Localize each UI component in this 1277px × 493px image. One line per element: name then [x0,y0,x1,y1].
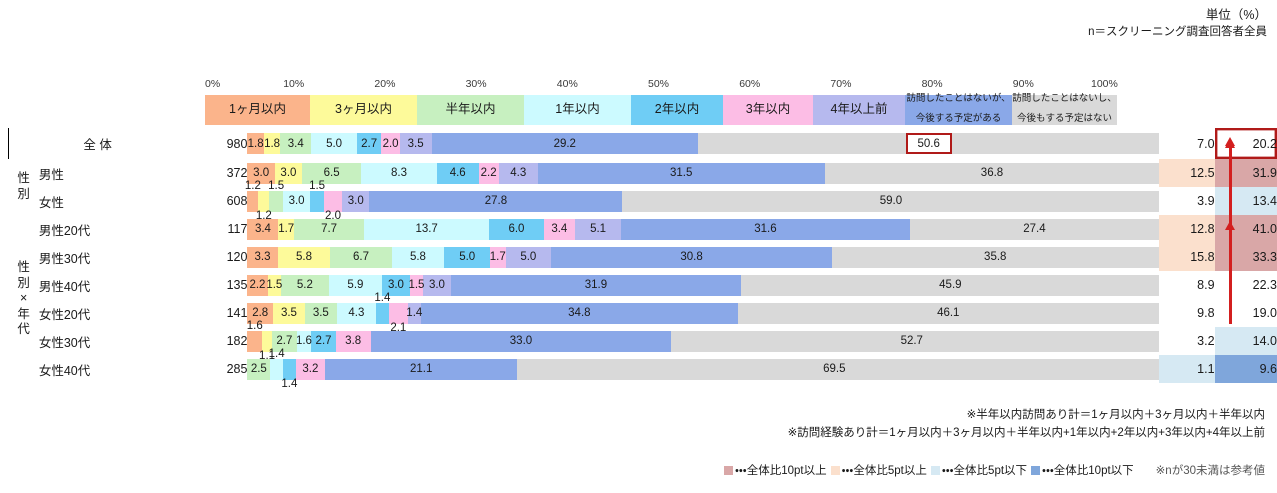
summary-visit-experience-total: 33.3 [1215,243,1277,271]
bar-segment: 35.8 [832,247,1158,268]
bar-segment: 33.0 [371,331,672,352]
bar-segment-value: 3.5 [408,138,424,150]
row-n-value: 980 [186,128,247,159]
legend-swatch-icon [931,466,940,475]
bar-segment-value: 69.5 [823,363,845,375]
bottom-legend-label: ・・・全体比5pt以上 [842,465,927,477]
bar-segment: 1.4 [283,359,296,380]
bar-segment-value: 5.0 [459,251,475,263]
legend-item-2: 半年以内 [417,95,524,125]
bar-segment: 1.5 [310,191,324,212]
row-bar-cell: 1.61.12.71.62.73.833.052.7 [247,327,1159,355]
bar-segment-value: 3.2 [302,363,318,375]
group-label-char: 別 [9,187,39,203]
table-row: 女性40代2852.51.41.43.221.169.51.19.6 [9,355,1277,383]
bottom-legend-item-0: ・・・全体比10pt以上 [724,462,827,478]
legend-strip: 1ヶ月以内3ヶ月以内半年以内1年以内2年以内3年以内4年以上前訪問したことはない… [205,95,1117,125]
bar-segment-value: 34.8 [568,307,590,319]
legend-item-8: 訪問したことはないし、今後もする予定はない [1012,95,1117,125]
bar-segment-value: 2.0 [325,210,341,222]
axis-tick: 70% [830,78,851,90]
bar-segment: 2.2 [479,163,499,184]
bar-segment: 45.9 [741,275,1159,296]
bar-segment-value: 5.0 [326,138,342,150]
row-bar-cell: 3.41.77.713.76.03.45.131.627.4 [247,215,1159,243]
bar-segment-value: 3.5 [313,307,329,319]
bar-segment: 59.0 [622,191,1159,212]
bar-segment: 13.7 [364,219,489,240]
bar-segment-value: 3.0 [289,195,305,207]
bar-segment-value: 7.7 [321,223,337,235]
bar-segment-value: 6.7 [353,251,369,263]
bar-segment-value: 27.4 [1023,223,1045,235]
group-label-char: 性 [9,171,39,187]
bar-segment: 1.5 [410,275,424,296]
legend-item-3: 1年以内 [524,95,631,125]
bottom-legend: ・・・全体比10pt以上・・・全体比5pt以上・・・全体比5pt以下・・・全体比… [0,462,1265,478]
bar-segment-value: 5.8 [410,251,426,263]
stacked-bar: 1.81.83.45.02.72.03.529.250.650.6 [247,133,1159,154]
bar-segment-value: 3.0 [253,167,269,179]
summary-within-half-year: 3.2 [1159,327,1214,355]
summary-visit-experience-total: 9.6 [1215,355,1277,383]
legend-label-line2: 今後もする予定はない [1017,114,1112,124]
bar-segment: 3.0 [283,191,310,212]
row-n-value: 285 [186,355,247,383]
group-label-char: × [9,291,39,307]
row-label: 女性40代 [39,355,186,383]
bar-segment-value: 1.2 [256,210,272,222]
bottom-legend-item-1: ・・・全体比5pt以上 [831,462,927,478]
bar-segment-value: 3.4 [288,138,304,150]
bar-segment: 5.2 [281,275,328,296]
legend-item-1: 3ヶ月以内 [310,95,417,125]
bar-segment: 4.6 [437,163,479,184]
bar-segment-value: 3.0 [280,167,296,179]
row-bar-cell: 3.35.86.75.85.01.75.030.835.8 [247,243,1159,271]
bar-segment-value: 5.8 [296,251,312,263]
bar-segment: 31.9 [451,275,742,296]
bar-segment: 1.2 [247,191,258,212]
bar-segment-value: 2.7 [361,138,377,150]
bar-segment-value: 3.0 [348,195,364,207]
unit-note: 単位（%） [1088,6,1267,24]
highlight-value-box: 50.6 [906,133,952,154]
bottom-legend-label: ・・・全体比5pt以下 [942,465,1027,477]
bar-segment: 6.0 [489,219,544,240]
bar-segment: 8.3 [361,163,437,184]
bar-segment: 2.7 [311,331,336,352]
stacked-bar: 2.83.53.54.31.42.11.434.846.1 [247,303,1159,324]
bar-segment-value: 3.4 [551,223,567,235]
bar-segment: 1.4 [376,303,389,324]
bar-segment-value: 5.9 [347,279,363,291]
table-row: 男性40代1352.21.55.25.93.01.53.031.945.98.9… [9,271,1277,299]
bar-segment-value: 2.0 [383,138,399,150]
table-row: 性別×年代男性20代1173.41.77.713.76.03.45.131.62… [9,215,1277,243]
chart-page: 単位（%） n＝スクリーニング調査回答者全員 0%10%20%30%40%50%… [0,0,1277,493]
bar-segment-value: 1.8 [248,138,264,150]
axis-tick: 10% [283,78,304,90]
bar-segment-value: 5.1 [590,223,606,235]
bar-segment: 52.7 [671,331,1152,352]
bar-segment-value: 6.0 [508,223,524,235]
row-label: 男性20代 [39,215,186,243]
bar-segment: 3.3 [247,247,277,268]
bar-segment: 1.8 [264,133,280,154]
bar-segment: 1.7 [278,219,294,240]
bar-segment: 4.3 [499,163,538,184]
summary-visit-experience-total: 13.4 [1215,187,1277,215]
summary-within-half-year: 9.8 [1159,299,1214,327]
bar-segment: 34.8 [421,303,738,324]
bar-segment: 3.5 [400,133,432,154]
stacked-bar: 3.03.06.58.34.62.24.331.536.8 [247,163,1159,184]
bar-segment: 31.6 [621,219,909,240]
bar-segment-value: 31.6 [754,223,776,235]
summary-visit-experience-total: 22.3 [1215,271,1277,299]
row-label: 全 体 [9,128,187,159]
bar-segment: 5.1 [575,219,622,240]
axis-tick: 100% [1091,78,1118,90]
summary-within-half-year: 7.0 [1159,128,1214,159]
bar-segment-value: 45.9 [939,279,961,291]
bar-segment-value: 2.7 [316,335,332,347]
bar-segment: 5.8 [392,247,445,268]
axis-tick: 90% [1013,78,1034,90]
bar-segment-value: 13.7 [415,223,437,235]
bar-segment-value: 1.2 [245,180,261,192]
bar-segment: 3.5 [305,303,337,324]
table-row: 男性30代1203.35.86.75.85.01.75.030.835.815.… [9,243,1277,271]
base-note: n＝スクリーニング調査回答者全員 [1088,24,1267,41]
axis-tick: 60% [739,78,760,90]
row-label: 女性20代 [39,299,186,327]
bar-segment-value: 1.5 [266,279,282,291]
summary-within-half-year: 8.9 [1159,271,1214,299]
bar-segment: 7.7 [294,219,364,240]
bar-segment-value: 33.0 [510,335,532,347]
summary-visit-experience-total: 19.0 [1215,299,1277,327]
bar-segment-value: 5.2 [297,279,313,291]
row-n-value: 372 [186,159,247,187]
summary-visit-experience-total: 14.0 [1215,327,1277,355]
legend-swatch-icon [1031,466,1040,475]
table-row: 女性30代1821.61.12.71.62.73.833.052.73.214.… [9,327,1277,355]
bar-segment-value: 59.0 [880,195,902,207]
bar-segment-value: 3.3 [255,251,271,263]
group-label-char: 年 [9,307,39,323]
row-label: 女性30代 [39,327,186,355]
bar-segment: 1.2 [258,191,269,212]
bottom-legend-item-3: ・・・全体比10pt以下 [1031,462,1134,478]
bar-segment: 2.0 [324,191,342,212]
bar-segment: 3.4 [247,219,278,240]
bar-segment: 3.2 [296,359,325,380]
bar-segment-value: 29.2 [554,138,576,150]
legend-label-line1: 訪問したことはないが、 [906,94,1010,104]
bar-segment: 5.0 [311,133,357,154]
bar-segment: 4.3 [337,303,376,324]
x-axis: 0%10%20%30%40%50%60%70%80%90%100% [205,78,1117,92]
axis-tick: 0% [205,78,220,90]
bar-segment-value: 3.0 [388,279,404,291]
bar-segment-value: 1.4 [406,307,422,319]
row-label: 男性 [39,159,186,187]
bar-segment-value: 1.4 [269,348,285,360]
axis-tick: 30% [466,78,487,90]
bar-segment-value: 4.3 [510,167,526,179]
bar-segment: 29.2 [432,133,698,154]
bar-segment: 27.8 [369,191,622,212]
bar-segment: 2.2 [247,275,267,296]
top-notes: 単位（%） n＝スクリーニング調査回答者全員 [1088,6,1267,41]
summary-visit-experience-total: 31.9 [1215,159,1277,187]
bar-segment: 69.5 [517,359,1151,380]
bar-segment: 1.4 [408,303,421,324]
summary-within-half-year: 1.1 [1159,355,1214,383]
summary-within-half-year: 15.8 [1159,243,1214,271]
stacked-bar: 2.51.41.43.221.169.5 [247,359,1159,380]
bar-segment: 6.7 [330,247,391,268]
bar-segment-value: 31.5 [670,167,692,179]
footnote-1: ※半年以内訪問あり計＝1ヶ月以内＋3ヶ月以内＋半年以内 [788,406,1265,424]
stacked-bar: 1.61.12.71.62.73.833.052.7 [247,331,1159,352]
bar-segment: 36.8 [825,163,1160,184]
bar-segment-value: 1.8 [264,138,280,150]
bar-segment-value: 1.7 [490,251,506,263]
bar-segment-value: 3.8 [345,335,361,347]
bar-segment: 2.1 [389,303,408,324]
table-row: 全 体9801.81.83.45.02.72.03.529.250.650.67… [9,128,1277,159]
bar-segment: 3.0 [342,191,369,212]
bar-segment-value: 1.5 [309,180,325,192]
bar-segment-value: 36.8 [981,167,1003,179]
row-bar-cell: 2.83.53.54.31.42.11.434.846.1 [247,299,1159,327]
group-label-char: 性 [9,260,39,276]
legend-label-line2: 今後する予定がある [916,114,1002,124]
bar-segment-value: 1.7 [278,223,294,235]
bar-segment: 1.5 [269,191,283,212]
bar-segment-value: 1.4 [374,292,390,304]
bottom-legend-item-2: ・・・全体比5pt以下 [931,462,1027,478]
bar-segment-value: 8.3 [391,167,407,179]
row-label: 男性30代 [39,243,186,271]
bar-segment: 3.4 [544,219,575,240]
bar-segment: 1.4 [270,359,283,380]
bar-segment: 27.4 [910,219,1160,240]
axis-tick: 20% [374,78,395,90]
bar-segment: 5.0 [444,247,490,268]
bar-segment-value: 3.5 [281,307,297,319]
bar-segment-value: 35.8 [984,251,1006,263]
row-n-value: 117 [186,215,247,243]
axis-tick: 50% [648,78,669,90]
bar-segment: 46.1 [738,303,1158,324]
row-group-label: 性別 [9,159,39,215]
table-row: 女性6081.21.21.53.01.52.03.027.859.03.913.… [9,187,1277,215]
bar-segment: 30.8 [551,247,832,268]
bar-segment-value: 30.8 [680,251,702,263]
bar-segment: 2.0 [381,133,399,154]
bar-segment: 2.7 [357,133,382,154]
bar-segment-value: 27.8 [485,195,507,207]
bar-segment: 3.5 [273,303,305,324]
bar-segment: 31.5 [538,163,825,184]
group-label-char: 別 [9,276,39,292]
legend-swatch-icon [831,466,840,475]
bottom-legend-label: ・・・全体比10pt以上 [735,465,827,477]
legend-item-0: 1ヶ月以内 [205,95,310,125]
bar-segment-value: 1.4 [281,378,297,390]
trend-arrow-icon [1229,228,1232,324]
footnote-2: ※訪問経験あり計＝1ヶ月以内＋3ヶ月以内＋半年以内+1年以内+2年以内+3年以内… [788,424,1265,442]
row-bar-cell: 3.03.06.58.34.62.24.331.536.8 [247,159,1159,187]
bar-segment-value: 2.2 [481,167,497,179]
footnotes: ※半年以内訪問あり計＝1ヶ月以内＋3ヶ月以内＋半年以内 ※訪問経験あり計＝1ヶ月… [788,406,1265,443]
stacked-bar: 3.41.77.713.76.03.45.131.627.4 [247,219,1159,240]
bar-segment-value: 3.0 [429,279,445,291]
bar-segment: 1.8 [247,133,263,154]
row-group-label: 性別×年代 [9,215,39,383]
bottom-legend-label: ・・・全体比10pt以下 [1042,465,1134,477]
legend-item-6: 4年以上前 [813,95,905,125]
bar-segment: 3.8 [336,331,371,352]
row-bar-cell: 1.81.83.45.02.72.03.529.250.650.6 [247,128,1159,159]
table-row: 性別男性3723.03.06.58.34.62.24.331.536.812.5… [9,159,1277,187]
row-n-value: 182 [186,327,247,355]
bar-segment-value: 2.8 [252,307,268,319]
stacked-bar: 1.21.21.53.01.52.03.027.859.0 [247,191,1159,212]
bar-segment: 5.0 [506,247,552,268]
row-bar-cell: 2.51.41.43.221.169.5 [247,355,1159,383]
summary-within-half-year: 12.8 [1159,215,1214,243]
bar-segment-value: 4.6 [450,167,466,179]
bar-segment: 1.7 [490,247,506,268]
row-label: 女性 [39,187,186,215]
legend-swatch-icon [724,466,733,475]
bar-segment-value: 1.5 [268,180,284,192]
bar-segment: 1.6 [297,331,312,352]
axis-tick: 40% [557,78,578,90]
bar-segment-value: 3.4 [255,223,271,235]
summary-within-half-year: 12.5 [1159,159,1214,187]
bar-segment-value: 2.7 [276,335,292,347]
bar-segment-value: 46.1 [937,307,959,319]
bar-segment-value: 2.1 [390,322,406,334]
row-n-value: 120 [186,243,247,271]
bar-segment-value: 31.9 [585,279,607,291]
bar-segment: 1.5 [268,275,282,296]
row-n-value: 608 [186,187,247,215]
table-row: 女性20代1412.83.53.54.31.42.11.434.846.19.8… [9,299,1277,327]
row-bar-cell: 1.21.21.53.01.52.03.027.859.0 [247,187,1159,215]
bar-segment: 2.5 [247,359,270,380]
legend-item-5: 3年以内 [723,95,813,125]
stacked-bar: 3.35.86.75.85.01.75.030.835.8 [247,247,1159,268]
bar-segment-value: 4.3 [348,307,364,319]
legend-label-line1: 訪問したことはないし、 [1012,94,1117,104]
bar-segment-value: 2.2 [249,279,265,291]
bar-segment-value: 52.7 [901,335,923,347]
bar-segment: 21.1 [325,359,517,380]
row-n-value: 141 [186,299,247,327]
axis-tick: 80% [922,78,943,90]
group-label-char: 代 [9,322,39,338]
reference-note: ※nが30未満は参考値 [1156,462,1265,478]
legend-item-4: 2年以内 [631,95,723,125]
bar-segment-value: 1.6 [247,320,263,332]
bar-segment-value: 6.5 [324,167,340,179]
bar-segment: 5.8 [278,247,331,268]
bar-segment-value: 1.6 [296,335,312,347]
bar-segment: 3.0 [423,275,450,296]
row-label: 男性40代 [39,271,186,299]
legend-item-7: 訪問したことはないが、今後する予定がある [905,95,1012,125]
summary-within-half-year: 3.9 [1159,187,1214,215]
bar-segment: 1.6 [247,331,262,352]
bar-segment-value: 5.0 [520,251,536,263]
bar-segment-value: 2.5 [251,363,267,375]
data-table: 全 体9801.81.83.45.02.72.03.529.250.650.67… [8,128,1277,383]
bar-segment-value: 21.1 [410,363,432,375]
row-n-value: 135 [186,271,247,299]
bar-segment: 3.4 [280,133,311,154]
bar-segment-value: 1.5 [408,279,424,291]
